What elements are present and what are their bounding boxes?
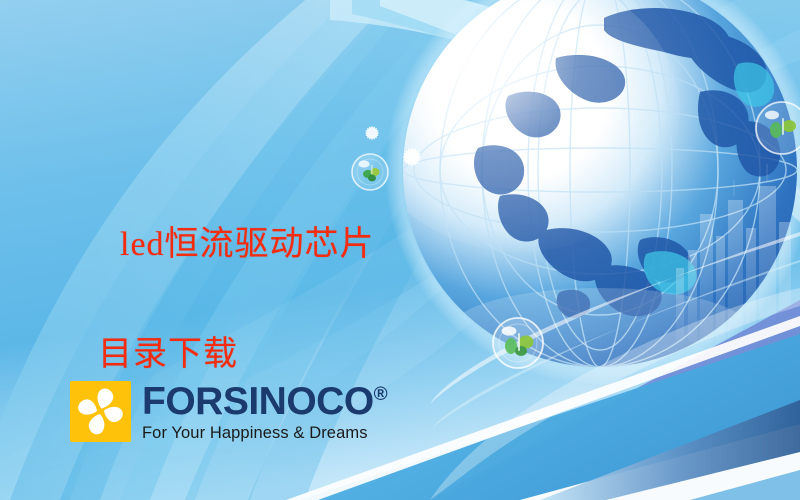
four-petal-pinwheel-icon bbox=[70, 381, 131, 442]
logo-wordmark: FORSINOCO® bbox=[142, 382, 387, 421]
headline-line-1: led恒流驱动芯片 bbox=[120, 226, 375, 263]
registered-trademark-icon: ® bbox=[374, 384, 388, 405]
logo-wordmark-text: FORSINOCO bbox=[142, 380, 374, 423]
headline-text: led恒流驱动芯片 目录下载 bbox=[82, 162, 375, 492]
logo-tagline: For Your Happiness & Dreams bbox=[142, 425, 387, 442]
logo-text-block: FORSINOCO® For Your Happiness & Dreams bbox=[142, 382, 387, 442]
company-logo[interactable]: FORSINOCO® For Your Happiness & Dreams bbox=[70, 381, 387, 442]
bubble-icon bbox=[756, 102, 800, 154]
pinwheel-petals bbox=[70, 381, 131, 442]
bubble-icon bbox=[493, 318, 543, 368]
promotional-banner: led恒流驱动芯片 目录下载 FORSINOCO® For Your Happi… bbox=[0, 0, 800, 500]
headline-line-2: 目录下载 bbox=[82, 327, 375, 382]
